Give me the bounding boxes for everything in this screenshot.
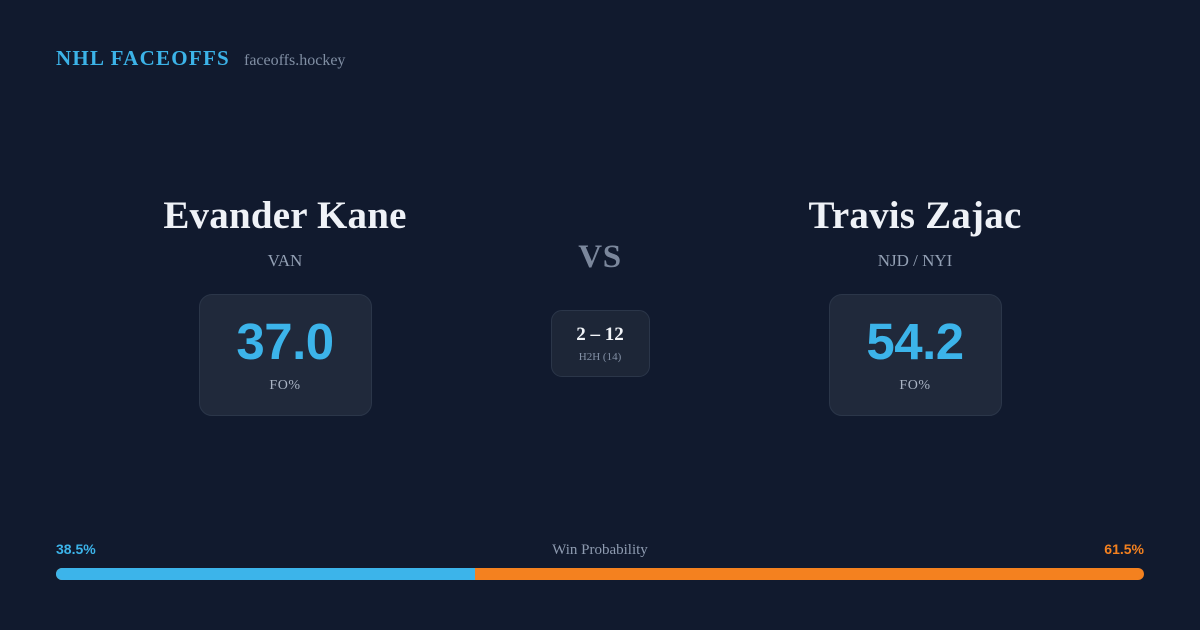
left-player-team: VAN <box>268 251 303 271</box>
head-to-head-label: H2H (14) <box>579 351 621 363</box>
win-probability-right-value: 61.5% <box>1104 541 1144 557</box>
matchup-section: Evander Kane VAN 37.0 FO% VS 2 – 12 H2H … <box>0 196 1200 416</box>
brand-logo-text[interactable]: NHL FACEOFFS <box>56 46 230 71</box>
right-player-stat-card: 54.2 FO% <box>829 294 1002 416</box>
brand-domain-text: faceoffs.hockey <box>244 52 345 70</box>
right-player-panel: Travis Zajac NJD / NYI 54.2 FO% <box>680 196 1150 416</box>
versus-panel: VS 2 – 12 H2H (14) <box>520 196 680 377</box>
left-player-name[interactable]: Evander Kane <box>163 196 406 235</box>
win-probability-left-value: 38.5% <box>56 541 96 557</box>
right-player-team: NJD / NYI <box>878 251 953 271</box>
win-probability-left-fill <box>56 568 475 580</box>
win-probability-section: 38.5% Win Probability 61.5% <box>56 541 1144 580</box>
win-probability-labels: 38.5% Win Probability 61.5% <box>56 541 1144 559</box>
site-header: NHL FACEOFFS faceoffs.hockey <box>56 46 345 71</box>
left-player-stat-label: FO% <box>269 378 300 394</box>
left-player-panel: Evander Kane VAN 37.0 FO% <box>50 196 520 416</box>
versus-label: VS <box>578 241 622 274</box>
head-to-head-card: 2 – 12 H2H (14) <box>551 310 650 377</box>
right-player-stat-label: FO% <box>899 378 930 394</box>
win-probability-title: Win Probability <box>552 542 648 559</box>
right-player-name[interactable]: Travis Zajac <box>809 196 1022 235</box>
right-player-faceoff-pct: 54.2 <box>866 316 963 367</box>
left-player-faceoff-pct: 37.0 <box>236 316 333 367</box>
left-player-stat-card: 37.0 FO% <box>199 294 372 416</box>
win-probability-bar <box>56 568 1144 580</box>
head-to-head-score: 2 – 12 <box>576 325 624 344</box>
